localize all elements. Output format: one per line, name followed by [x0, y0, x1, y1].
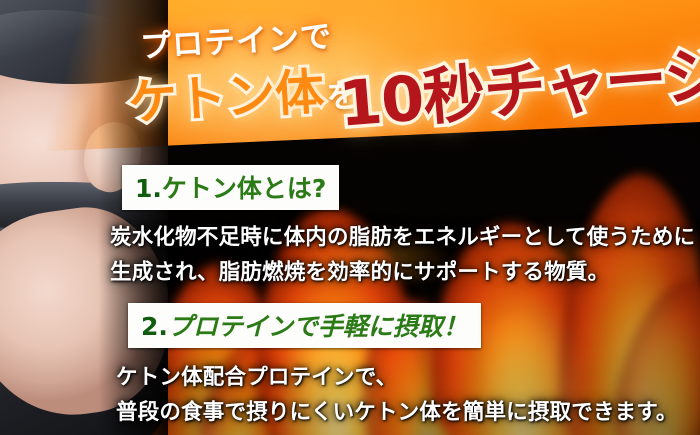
section-1-body: 炭水化物不足時に体内の脂肪をエネルギーとして使うために 生成され、脂肪燃焼を効率… — [0, 220, 700, 290]
headline-emphasis-10sec-charge: 10秒チャージ！ — [335, 18, 700, 144]
section-1-heading-box: 1.ケトン体とは? — [122, 165, 339, 210]
headline-keyword-ketone: ケトン体 — [126, 52, 326, 135]
section-2-number: 2. — [141, 312, 168, 341]
section-2-body-line-2: 普段の食事で摂りにくいケトン体を簡単に摂取できます。 — [116, 395, 700, 430]
section-1-number: 1. — [135, 174, 162, 203]
headline-line-2-left: ケトン体 を — [126, 50, 361, 135]
headline-group: プロテインで ケトン体 を 10秒チャージ！ — [0, 0, 700, 160]
section-2-heading-text: プロテインで手軽に摂取！ — [168, 312, 468, 341]
section-1-body-line-1: 炭水化物不足時に体内の脂肪をエネルギーとして使うために — [110, 220, 700, 255]
section-1: 1.ケトン体とは? 炭水化物不足時に体内の脂肪をエネルギーとして使うために 生成… — [0, 165, 700, 290]
section-2: 2.プロテインで手軽に摂取！ ケトン体配合プロテインで、 普段の食事で摂りにくい… — [0, 303, 700, 430]
section-1-heading-text: ケトン体とは? — [162, 174, 327, 203]
section-1-body-line-2: 生成され、脂肪燃焼を効率的にサポートする物質。 — [110, 255, 700, 290]
section-2-body: ケトン体配合プロテインで、 普段の食事で摂りにくいケトン体を簡単に摂取できます。 — [0, 360, 700, 430]
promo-banner: プロテインで ケトン体 を 10秒チャージ！ 1.ケトン体とは? 炭水化物不足時… — [0, 0, 700, 435]
section-2-body-line-1: ケトン体配合プロテインで、 — [116, 360, 700, 395]
section-2-heading-box: 2.プロテインで手軽に摂取！ — [128, 303, 481, 348]
